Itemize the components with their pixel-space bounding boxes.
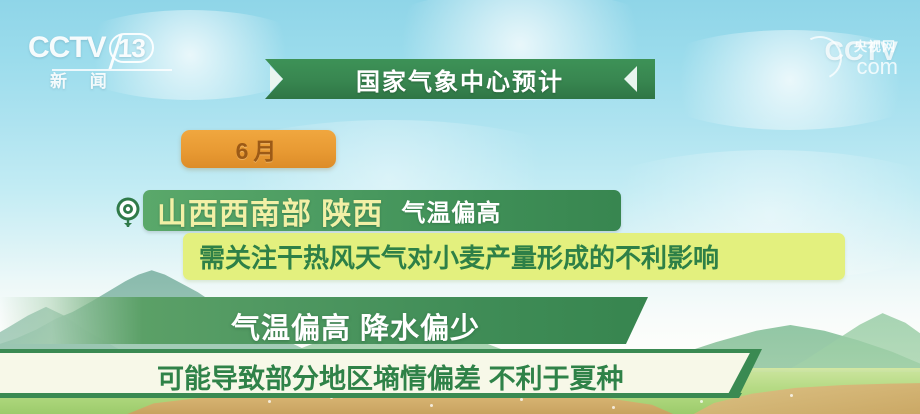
forecast-region-label: 山西西南部 陕西: [157, 189, 383, 233]
watermark-com-text: com: [856, 54, 898, 80]
watermark-chinese-text: 央视网: [854, 36, 896, 55]
chevron-right-icon: [624, 66, 637, 92]
banner-title: 国家气象中心预计: [356, 62, 564, 97]
logo-wordmark: CCTV13: [28, 33, 178, 63]
chevron-left-icon: [270, 66, 283, 92]
outlook-headline-text: 气温偏高 降水偏少: [231, 305, 480, 347]
cctv-com-watermark: CCTV 央视网 com: [825, 38, 899, 82]
logo-underline: [52, 69, 172, 71]
broadcast-graphic: CCTV13 新 闻 CCTV 央视网 com 国家气象中心预计 6月 山西西南…: [0, 0, 920, 414]
logo-channel-number: 13: [108, 33, 154, 63]
forecast-location-bar: 山西西南部 陕西 气温偏高: [143, 190, 621, 231]
month-badge: 6月: [181, 130, 336, 168]
header-banner: 国家气象中心预计: [265, 59, 655, 99]
location-target-icon: [113, 196, 143, 228]
outlook-impact-text: 可能导致部分地区墒情偏差 不利于夏种: [157, 357, 624, 396]
forecast-condition-label: 气温偏高: [401, 193, 501, 228]
logo-cctv-text: CCTV: [28, 31, 106, 64]
cctv13-logo: CCTV13 新 闻: [28, 33, 178, 91]
forecast-note-band: 需关注干热风天气对小麦产量形成的不利影响: [183, 233, 845, 280]
forecast-note-text: 需关注干热风天气对小麦产量形成的不利影响: [199, 238, 719, 275]
impact-band-top-border: [0, 349, 760, 353]
month-badge-label: 6月: [236, 132, 282, 166]
